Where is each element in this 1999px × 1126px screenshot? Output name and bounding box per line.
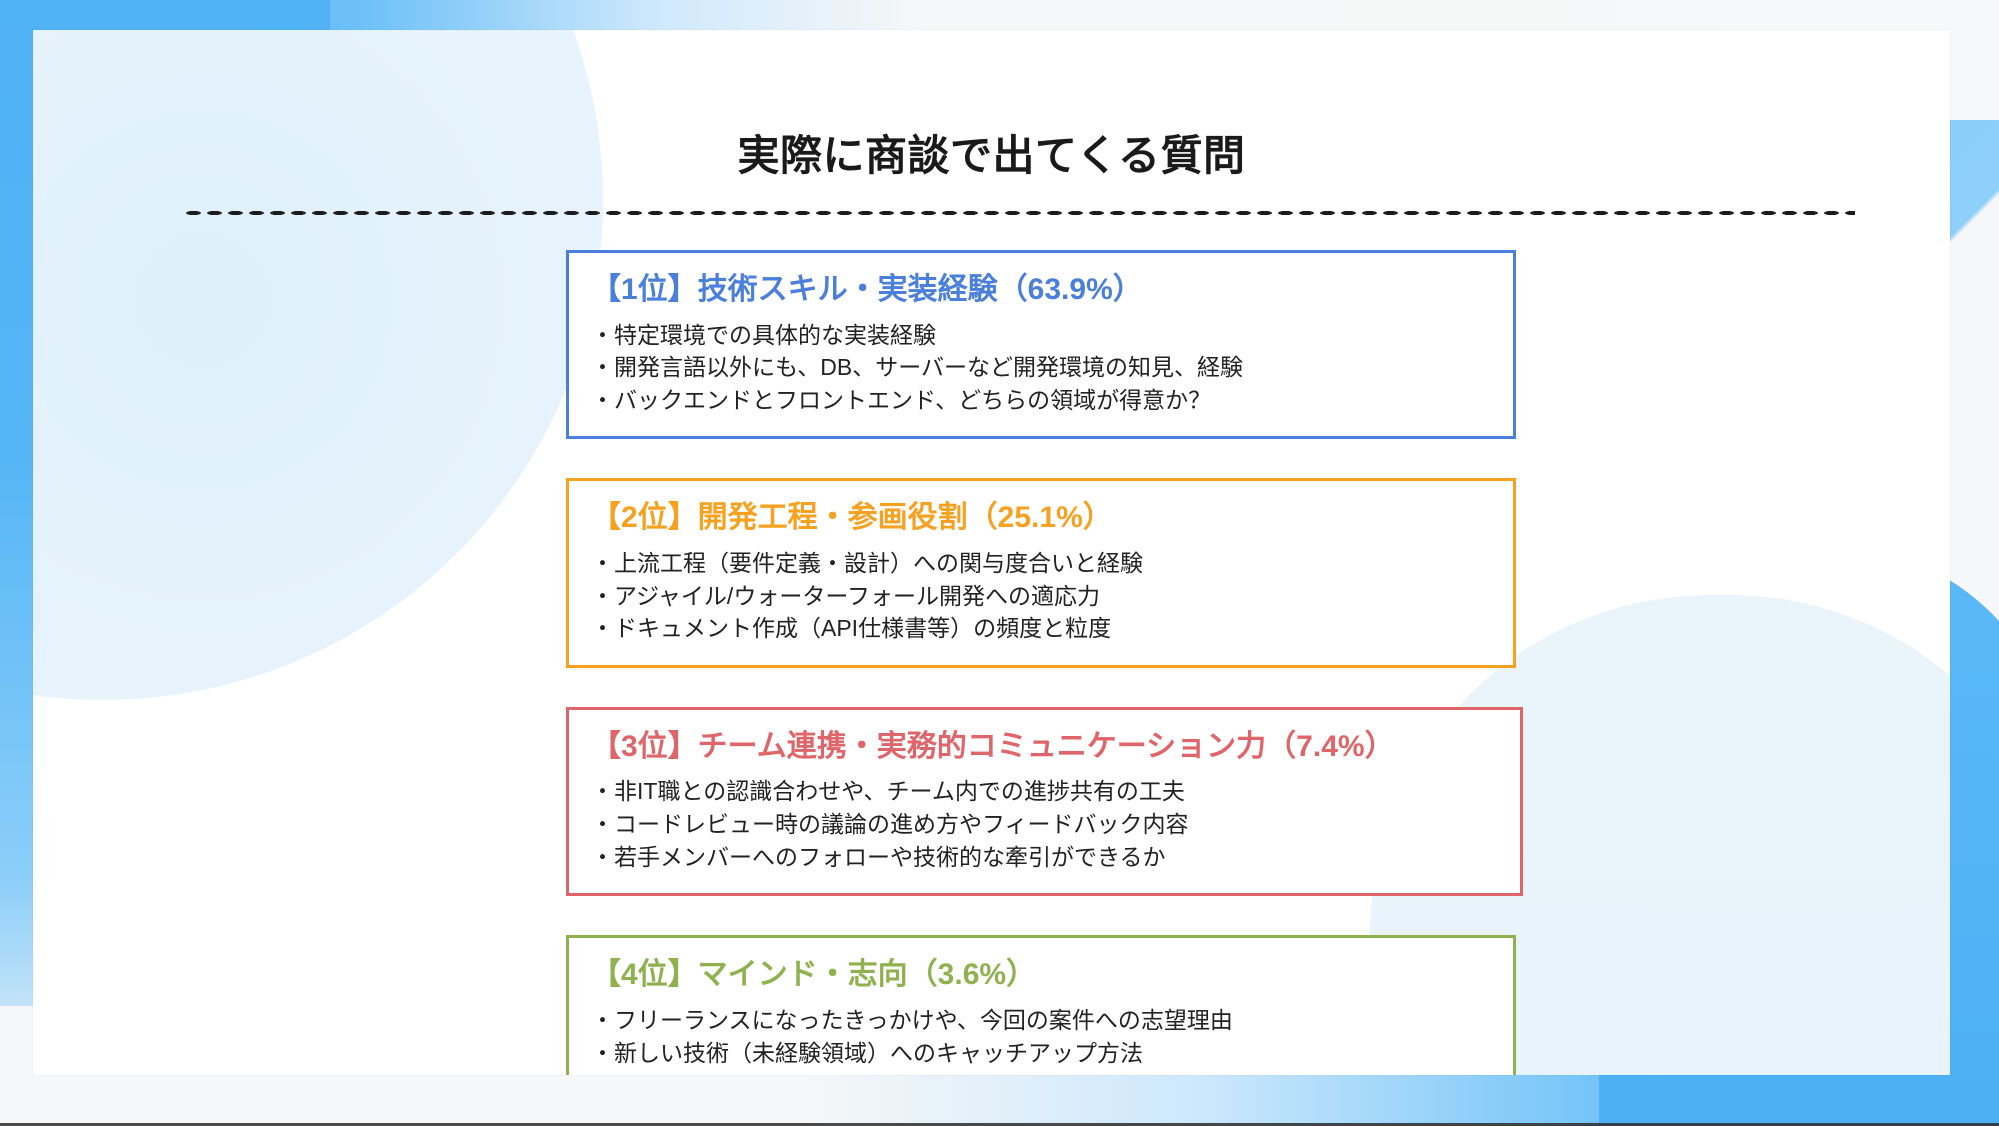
question-box-rank4: 【4位】マインド・志向（3.6%） ・フリーランスになったきっかけや、今回の案件… <box>566 935 1516 1075</box>
dotted-divider <box>183 210 1855 216</box>
page-title: 実際に商談で出てくる質問 <box>33 122 1950 183</box>
list-item: ・ドキュメント作成（API仕様書等）の頻度と粒度 <box>591 612 1491 645</box>
list-item: ・バックエンドとフロントエンド、どちらの領域が得意か？ <box>591 384 1491 417</box>
list-item: ・上流工程（要件定義・設計）への関与度合いと経験 <box>591 547 1491 580</box>
question-box-rank3: 【3位】チーム連携・実務的コミュニケーション力（7.4%） ・非IT職との認識合… <box>566 707 1523 896</box>
question-box-rank2-items: ・上流工程（要件定義・設計）への関与度合いと経験 ・アジャイル/ウォーターフォー… <box>569 543 1513 665</box>
slide-stage: 実際に商談で出てくる質問 【1位】技術スキル・実装経験（63.9%） ・特定環境… <box>0 0 1999 1126</box>
list-item: ・コードレビュー時の議論の進め方やフィードバック内容 <box>591 808 1498 841</box>
question-box-rank2: 【2位】開発工程・参画役割（25.1%） ・上流工程（要件定義・設計）への関与度… <box>566 478 1516 667</box>
list-item: ・アジャイル/ウォーターフォール開発への適応力 <box>591 580 1491 613</box>
slide-content-card: 実際に商談で出てくる質問 【1位】技術スキル・実装経験（63.9%） ・特定環境… <box>33 30 1950 1075</box>
question-box-rank4-items: ・フリーランスになったきっかけや、今回の案件への志望理由 ・新しい技術（未経験領… <box>569 1000 1513 1075</box>
question-box-rank3-heading: 【3位】チーム連携・実務的コミュニケーション力（7.4%） <box>569 710 1520 772</box>
question-box-rank4-heading: 【4位】マインド・志向（3.6%） <box>569 938 1513 1000</box>
question-box-rank1: 【1位】技術スキル・実装経験（63.9%） ・特定環境での具体的な実装経験 ・開… <box>566 250 1516 439</box>
list-item: ・特定環境での具体的な実装経験 <box>591 319 1491 352</box>
question-box-rank1-items: ・特定環境での具体的な実装経験 ・開発言語以外にも、DB、サーバーなど開発環境の… <box>569 319 1513 437</box>
question-box-rank3-items: ・非IT職との認識合わせや、チーム内での進捗共有の工夫 ・コードレビュー時の議論… <box>569 771 1520 893</box>
list-item: ・開発言語以外にも、DB、サーバーなど開発環境の知見、経験 <box>591 351 1491 384</box>
list-item: ・新しい技術（未経験領域）へのキャッチアップ方法 <box>591 1037 1491 1070</box>
question-box-rank1-heading: 【1位】技術スキル・実装経験（63.9%） <box>569 253 1513 319</box>
question-box-rank2-heading: 【2位】開発工程・参画役割（25.1%） <box>569 481 1513 543</box>
question-box-list: 【1位】技術スキル・実装経験（63.9%） ・特定環境での具体的な実装経験 ・開… <box>566 250 1526 1075</box>
list-item: ・若手メンバーへのフォローや技術的な牽引ができるか <box>591 841 1498 874</box>
list-item: ・フリーランスになったきっかけや、今回の案件への志望理由 <box>591 1004 1491 1037</box>
list-item: ・非IT職との認識合わせや、チーム内での進捗共有の工夫 <box>591 775 1498 808</box>
